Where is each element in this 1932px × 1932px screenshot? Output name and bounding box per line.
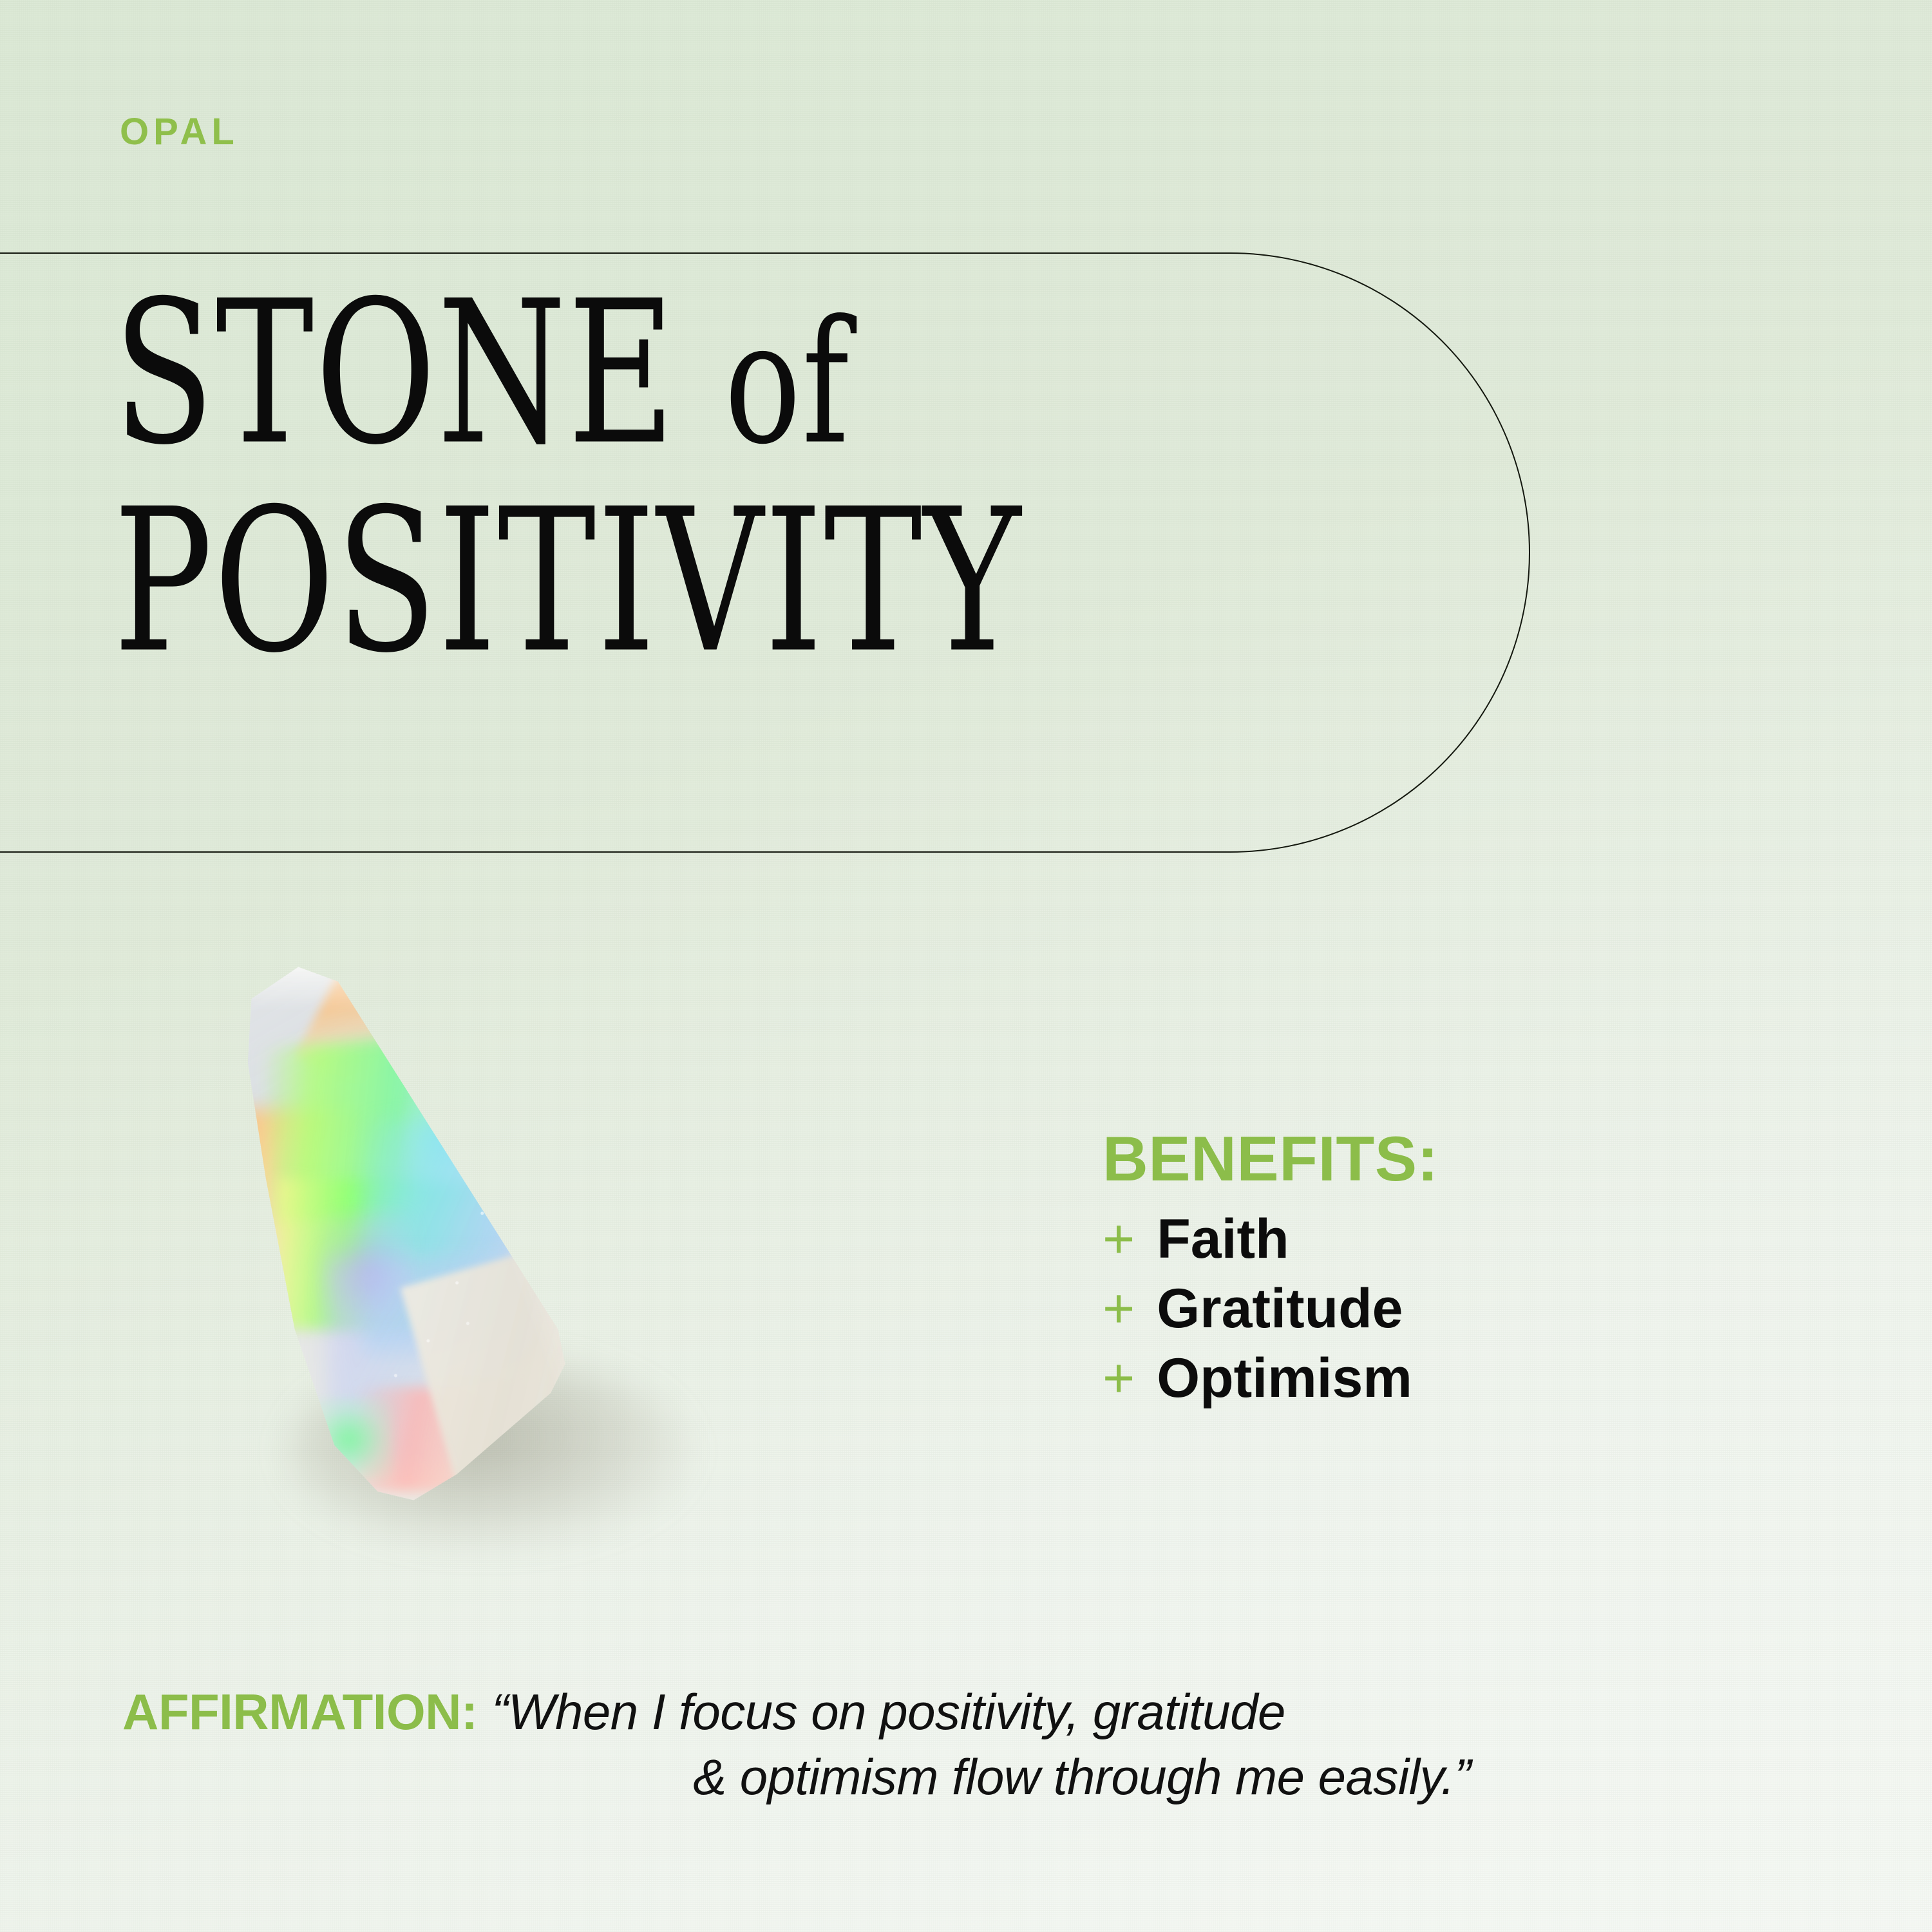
list-item: + Faith: [1103, 1211, 1682, 1267]
title-line-1-lowercase: of: [724, 284, 850, 482]
plus-icon: +: [1103, 1350, 1135, 1406]
affirmation-line-2: & optimism flow through me easily.”: [122, 1749, 1823, 1805]
list-item: + Gratitude: [1103, 1281, 1682, 1336]
affirmation-label: AFFIRMATION:: [122, 1684, 477, 1740]
eyebrow-label: OPAL: [120, 113, 239, 151]
plus-icon: +: [1103, 1211, 1135, 1267]
page-title: STONE of POSITIVITY: [113, 278, 1440, 634]
list-item: + Optimism: [1103, 1350, 1682, 1406]
title-line-1-main: STONE: [113, 258, 724, 489]
affirmation-text-line-1: “When I focus on positivity, gratitude: [491, 1684, 1285, 1740]
affirmation-section: AFFIRMATION: “When I focus on positivity…: [122, 1684, 1823, 1806]
affirmation-text-line-2: & optimism flow through me easily.”: [693, 1748, 1471, 1805]
opal-stone-figure: [193, 934, 966, 1578]
benefit-label-faith: Faith: [1157, 1211, 1289, 1267]
benefit-label-optimism: Optimism: [1157, 1350, 1412, 1406]
benefits-heading: BENEFITS:: [1103, 1126, 1682, 1192]
benefits-section: BENEFITS: + Faith + Gratitude + Optimism: [1103, 1126, 1682, 1420]
benefit-label-gratitude: Gratitude: [1157, 1281, 1403, 1336]
plus-icon: +: [1103, 1281, 1135, 1336]
affirmation-line-1: AFFIRMATION: “When I focus on positivity…: [122, 1684, 1823, 1740]
title-line-2: POSITIVITY: [113, 486, 1400, 678]
title-line-1: STONE of: [113, 278, 1400, 470]
